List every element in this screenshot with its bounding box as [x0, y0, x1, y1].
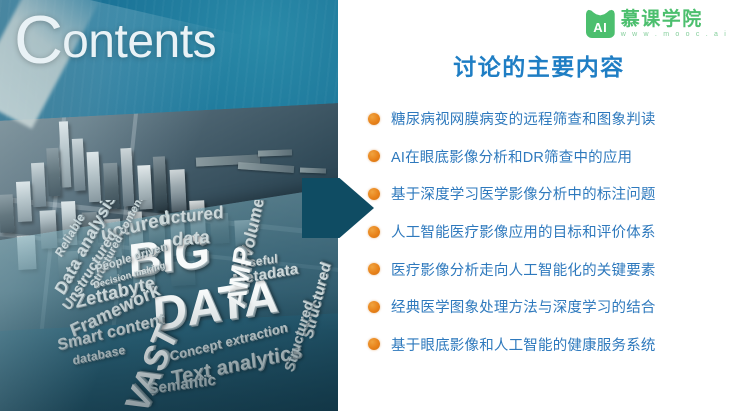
agenda-item-label: 人工智能医疗影像应用的目标和评价体系 [391, 221, 656, 242]
logo-url: w w w . m o o c . a i [621, 31, 728, 38]
agenda-item-5[interactable]: 医疗影像分析走向人工智能化的关键要素 [368, 250, 736, 288]
page-title: Contents [14, 6, 216, 74]
agenda-item-4[interactable]: 人工智能医疗影像应用的目标和评价体系 [368, 213, 736, 251]
pier [258, 149, 292, 156]
agenda-item-7[interactable]: 基于眼底影像和人工智能的健康服务系统 [368, 326, 736, 364]
agenda-item-label: 医疗影像分析走向人工智能化的关键要素 [391, 259, 656, 280]
presentation-slide: BIGDATAuctureductureddataVolumeUsefulMet… [0, 0, 740, 411]
agenda-item-label: 糖尿病视网膜病变的远程筛查和图象判读 [391, 108, 656, 129]
bullet-dot-icon [368, 263, 380, 275]
agenda-item-1[interactable]: 糖尿病视网膜病变的远程筛查和图象判读 [368, 100, 736, 138]
bullet-dot-icon [368, 150, 380, 162]
bullet-dot-icon [368, 188, 380, 200]
agenda-item-label: 经典医学图象处理方法与深度学习的结合 [391, 296, 656, 317]
agenda-item-6[interactable]: 经典医学图象处理方法与深度学习的结合 [368, 288, 736, 326]
agenda-list: 糖尿病视网膜病变的远程筛查和图象判读AI在眼底影像分析和DR筛查中的应用基于深度… [368, 100, 736, 363]
bullet-dot-icon [368, 338, 380, 350]
logo-brand-name: 慕课学院 [621, 10, 728, 30]
bullet-dot-icon [368, 226, 380, 238]
page-title-rest: ontents [62, 15, 216, 68]
agenda-item-3[interactable]: 基于深度学习医学影像分析中的标注问题 [368, 175, 736, 213]
bullet-dot-icon [368, 301, 380, 313]
logo-mark-text: AI [586, 21, 615, 34]
open-book-icon: AI [586, 9, 615, 38]
brand-logo[interactable]: AI 慕课学院 w w w . m o o c . a i [586, 9, 728, 38]
pier [300, 168, 326, 174]
agenda-item-label: AI在眼底影像分析和DR筛查中的应用 [391, 146, 632, 167]
agenda-item-label: 基于眼底影像和人工智能的健康服务系统 [391, 334, 656, 355]
bullet-dot-icon [368, 113, 380, 125]
section-title: 讨论的主要内容 [338, 48, 740, 82]
right-content-panel: AI 慕课学院 w w w . m o o c . a i 讨论的主要内容 糖尿… [338, 0, 740, 411]
agenda-item-label: 基于深度学习医学影像分析中的标注问题 [391, 183, 656, 204]
agenda-item-2[interactable]: AI在眼底影像分析和DR筛查中的应用 [368, 138, 736, 176]
logo-wordmark: 慕课学院 w w w . m o o c . a i [621, 9, 728, 38]
page-title-initial: C [14, 2, 62, 78]
